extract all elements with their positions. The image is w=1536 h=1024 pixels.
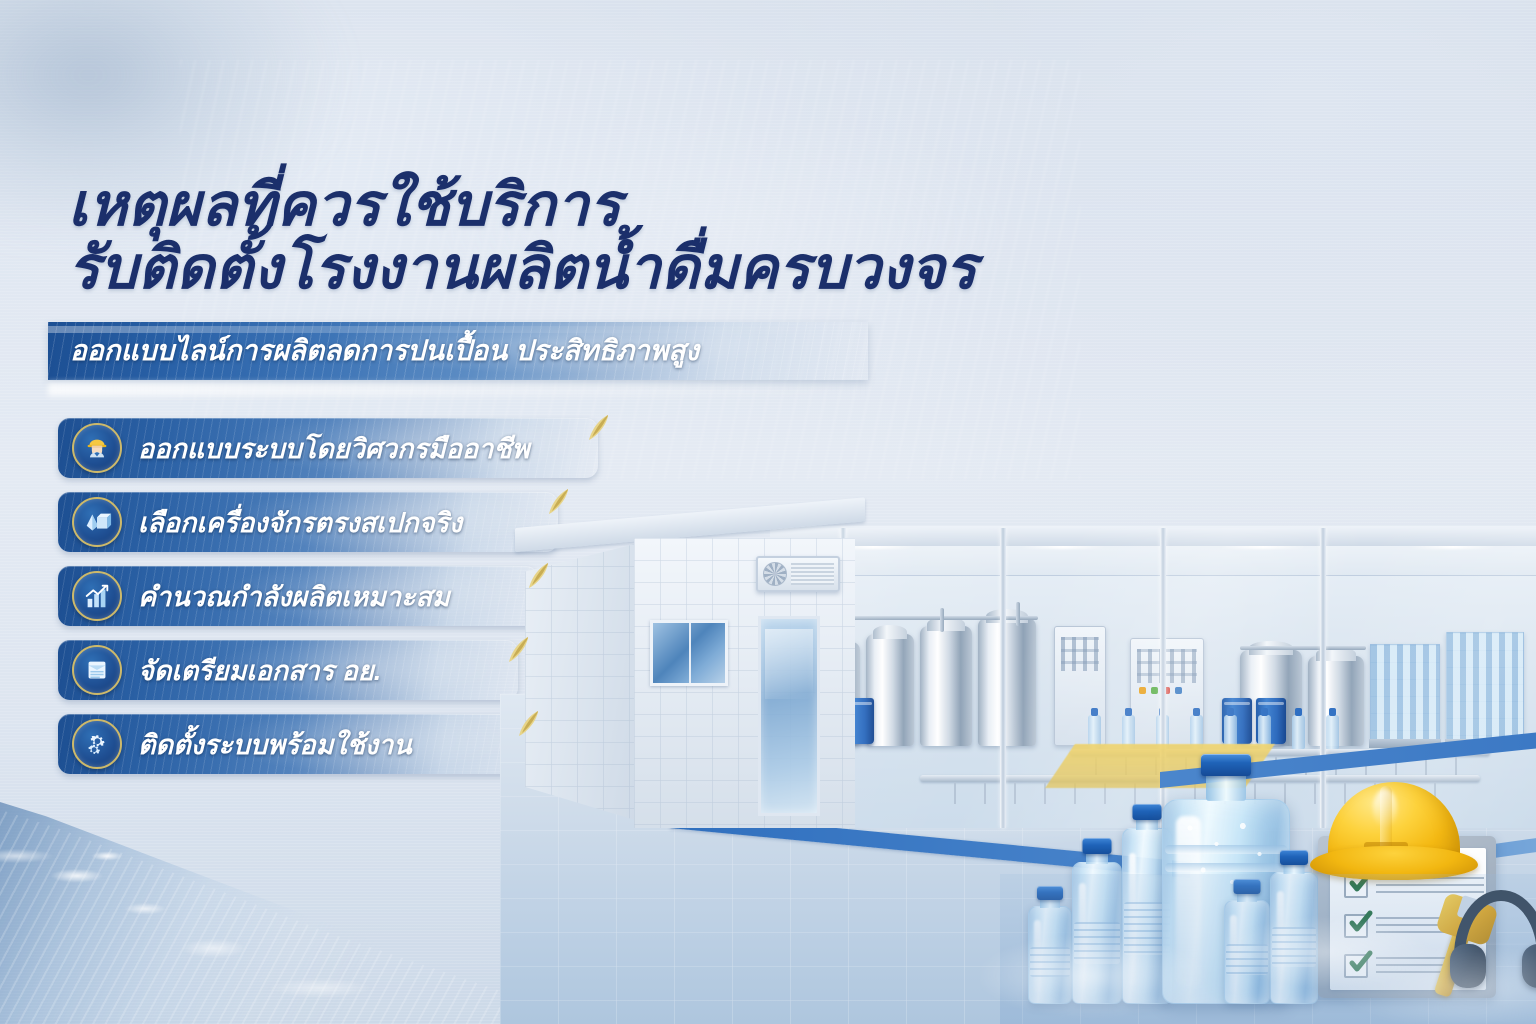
product-group: [1010, 704, 1530, 1004]
building-front-wall: [634, 538, 855, 828]
water-bottle: [1270, 872, 1318, 1004]
bottle-ribs: [1226, 944, 1268, 975]
list-item-label: จัดเตรียมเอกสาร อย.: [138, 649, 381, 692]
page-title: เหตุผลที่ควรใช้บริการ รับติดตั้งโรงงานผล…: [68, 175, 948, 300]
sliding-window: [650, 620, 728, 686]
list-item-label: คำนวณกำลังผลิตเหมาะสม: [138, 575, 450, 618]
list-item[interactable]: จัดเตรียมเอกสาร อย.: [58, 640, 518, 700]
water-bottle: [1224, 900, 1270, 1004]
factory-building: [525, 528, 855, 828]
gold-leaf-accent: [517, 710, 541, 740]
headphones-ear-cup: [1522, 944, 1536, 988]
jug-bubbles: [1166, 808, 1286, 908]
engineer-icon: [72, 423, 122, 473]
jug-neck: [1206, 773, 1246, 801]
headphones-ear-cup: [1450, 944, 1486, 988]
air-conditioner-icon: [756, 556, 840, 592]
glass-header-beam: [770, 526, 1536, 546]
list-item-label: ติดตั้งระบบพร้อมใช้งาน: [138, 723, 412, 766]
bottle-cap: [1234, 879, 1261, 894]
bottle-ribs: [1272, 927, 1316, 967]
list-item[interactable]: ออกแบบระบบโดยวิศวกรมืออาชีพ: [58, 418, 598, 478]
headline-line-2: รับติดตั้งโรงงานผลิตน้ำดื่มครบวงจร: [68, 238, 948, 299]
vertical-pipe: [1016, 602, 1020, 626]
bar-chart-icon: [72, 571, 122, 621]
panel-buttons: [1061, 637, 1099, 671]
gold-leaf-accent: [547, 488, 571, 518]
list-item-label: ออกแบบระบบโดยวิศวกรมืออาชีพ: [138, 427, 529, 470]
list-item-label: เลือกเครื่องจักรตรงสเปกจริง: [138, 501, 462, 544]
machinery-boxes-icon: [72, 497, 122, 547]
vertical-pipe: [940, 608, 944, 632]
subtitle-bar: ออกแบบไลน์การผลิตลดการปนเปื้อน ประสิทธิภ…: [48, 322, 868, 380]
gold-leaf-accent: [587, 414, 611, 444]
subtitle-bar-glow: [48, 382, 868, 396]
documents-icon: [72, 645, 122, 695]
ac-fan: [763, 562, 787, 586]
gears-icon: [72, 719, 122, 769]
panel-buttons: [1137, 649, 1197, 683]
check-icon: [1346, 908, 1376, 938]
gold-leaf-accent: [507, 636, 531, 666]
ac-grill: [791, 563, 834, 585]
gold-leaf-accent: [527, 562, 551, 592]
hard-hat-icon: [1310, 778, 1478, 886]
headline-line-1: เหตุผลที่ควรใช้บริการ: [68, 175, 948, 236]
list-item[interactable]: คำนวณกำลังผลิตเหมาะสม: [58, 566, 538, 626]
bottle-cap: [1037, 886, 1063, 900]
glass-mullion: [1000, 528, 1006, 828]
glass-door: [758, 616, 820, 816]
water-bottle: [1028, 906, 1072, 1004]
bottle-ribs: [1074, 922, 1120, 965]
hat-brim: [1310, 846, 1478, 880]
jug-cap: [1201, 754, 1251, 776]
bottle-ribs: [1030, 947, 1070, 976]
check-icon: [1346, 948, 1376, 978]
bottle-cap: [1280, 850, 1308, 865]
list-item[interactable]: เลือกเครื่องจักรตรงสเปกจริง: [58, 492, 558, 552]
water-bottle: [1072, 862, 1122, 1004]
steel-tank: [920, 626, 972, 746]
headphones-icon: [1450, 890, 1536, 994]
subtitle-text: ออกแบบไลน์การผลิตลดการปนเปื้อน ประสิทธิภ…: [48, 329, 699, 373]
overhead-pipe: [1240, 646, 1366, 650]
bottle-cap: [1133, 804, 1162, 820]
list-item[interactable]: ติดตั้งระบบพร้อมใช้งาน: [58, 714, 528, 774]
banner-stage: เหตุผลที่ควรใช้บริการ รับติดตั้งโรงงานผล…: [0, 0, 1536, 1024]
bottle-cap: [1083, 838, 1112, 854]
